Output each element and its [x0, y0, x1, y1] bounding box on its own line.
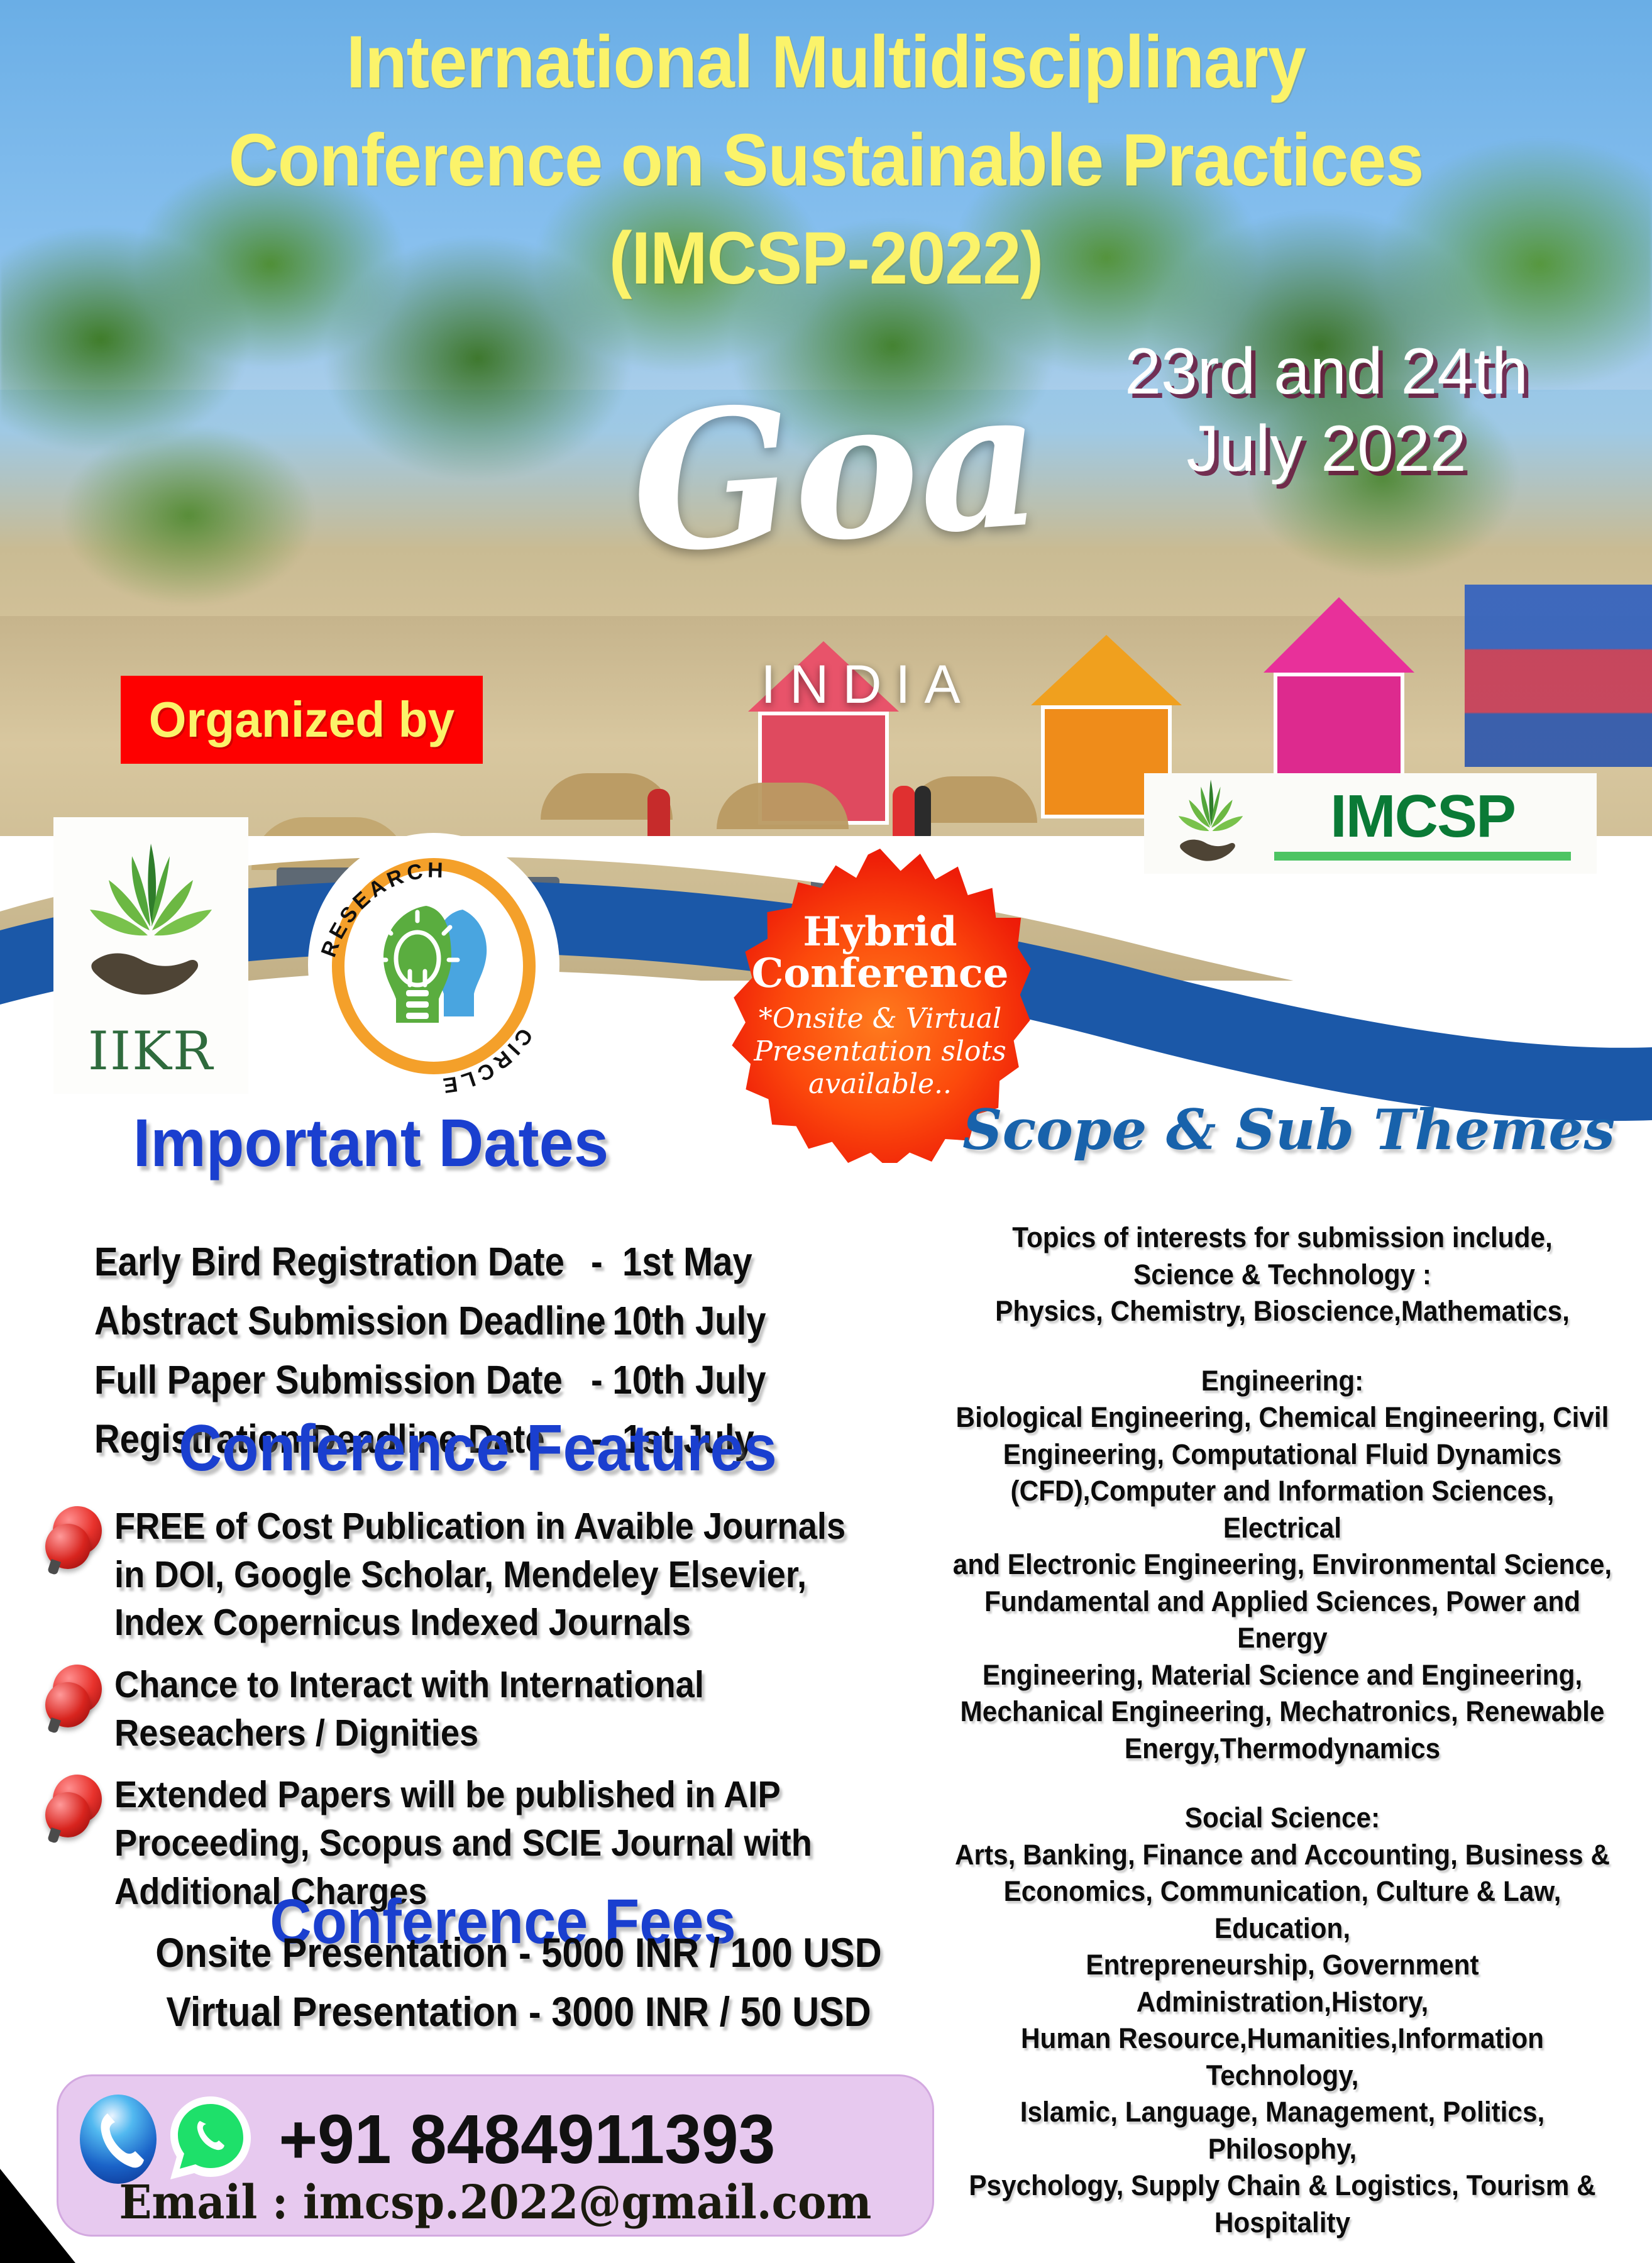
fee-line: Virtual Presentation - 3000 INR / 50 USD — [137, 1983, 901, 2042]
table-row: Full Paper Submission Date - 10th July — [94, 1350, 899, 1409]
spacer — [930, 2241, 1634, 2263]
imcsp-logo: IMCSP — [1144, 773, 1597, 874]
important-date-value: - 10th July — [591, 1291, 829, 1350]
conference-poster: International Multidisciplinary Conferen… — [0, 0, 1652, 2263]
scope-engineering-body: Biological Engineering, Chemical Enginee… — [952, 1399, 1614, 1767]
beach-parasols-cluster — [1465, 585, 1652, 767]
scope-heading: Scope & Sub Themes — [955, 1097, 1622, 1162]
whatsapp-icon[interactable] — [164, 2091, 257, 2187]
iikr-acronym: IIKR — [88, 1020, 214, 1082]
plant-in-hand-icon — [1160, 776, 1261, 871]
scope-social-body: Arts, Banking, Finance and Accounting, B… — [952, 1837, 1614, 2242]
feature-text: FREE of Cost Publication in Avaible Jour… — [114, 1502, 845, 1647]
important-date-value: - 10th July — [591, 1350, 829, 1409]
spacer — [930, 1330, 1634, 1363]
poster-title: International Multidisciplinary Conferen… — [58, 14, 1594, 307]
important-date-value: - 1st May — [591, 1232, 829, 1291]
destination-country: INDIA — [647, 654, 1088, 716]
contact-panel: +91 8484911393 Email : imcsp.2022@gmail.… — [57, 2074, 934, 2237]
important-date-label: Full Paper Submission Date — [94, 1350, 531, 1409]
list-item: FREE of Cost Publication in Avaible Jour… — [44, 1502, 937, 1647]
conference-fees-list: Onsite Presentation - 5000 INR / 100 USD… — [94, 1924, 943, 2041]
table-row: Early Bird Registration Date - 1st May — [94, 1232, 899, 1291]
beach-person — [915, 786, 931, 842]
contact-email[interactable]: Email : imcsp.2022@gmail.com — [94, 2176, 898, 2230]
important-date-label: Abstract Submission Deadline — [94, 1291, 531, 1350]
phone-row: +91 8484911393 — [80, 2091, 786, 2187]
spacer — [930, 1767, 1634, 1800]
feature-text: Chance to Interact with International Re… — [114, 1661, 704, 1757]
pushpin-icon — [44, 1771, 114, 1846]
scope-intro: Topics of interests for submission inclu… — [952, 1220, 1614, 1330]
plant-in-hand-icon — [72, 831, 229, 1016]
list-item: Chance to Interact with International Re… — [44, 1661, 937, 1757]
table-row: Abstract Submission Deadline - 10th July — [94, 1291, 899, 1350]
conference-features-heading: Conference Features — [102, 1411, 854, 1486]
conference-features-list: FREE of Cost Publication in Avaible Jour… — [44, 1502, 937, 1930]
organized-by-banner: Organized by — [121, 676, 483, 764]
scope-content: Topics of interests for submission inclu… — [930, 1220, 1634, 2263]
hybrid-badge-line1: Hybrid — [803, 911, 957, 954]
iikr-logo: IIKR — [53, 817, 248, 1094]
head-lightbulb-icon — [368, 893, 500, 1038]
hybrid-badge-line2: Conference — [751, 953, 1008, 995]
fee-line: Onsite Presentation - 5000 INR / 100 USD — [137, 1924, 901, 1983]
research-circle-logo: RESEARCH CIRCLE — [308, 833, 559, 1097]
scope-social-heading: Social Science: — [952, 1800, 1614, 1837]
important-dates-heading: Important Dates — [105, 1103, 637, 1182]
pushpin-icon — [44, 1661, 114, 1736]
hybrid-badge-note: *Onsite & Virtual Presentation slots ava… — [754, 1003, 1006, 1101]
scope-engineering-heading: Engineering: — [952, 1363, 1614, 1400]
contact-phone-number[interactable]: +91 8484911393 — [278, 2100, 775, 2179]
phone-call-icon[interactable] — [80, 2095, 157, 2184]
imcsp-underline — [1274, 852, 1572, 861]
pushpin-icon — [44, 1502, 114, 1578]
imcsp-wordmark: IMCSP — [1330, 786, 1515, 847]
important-date-label: Early Bird Registration Date — [94, 1232, 531, 1291]
